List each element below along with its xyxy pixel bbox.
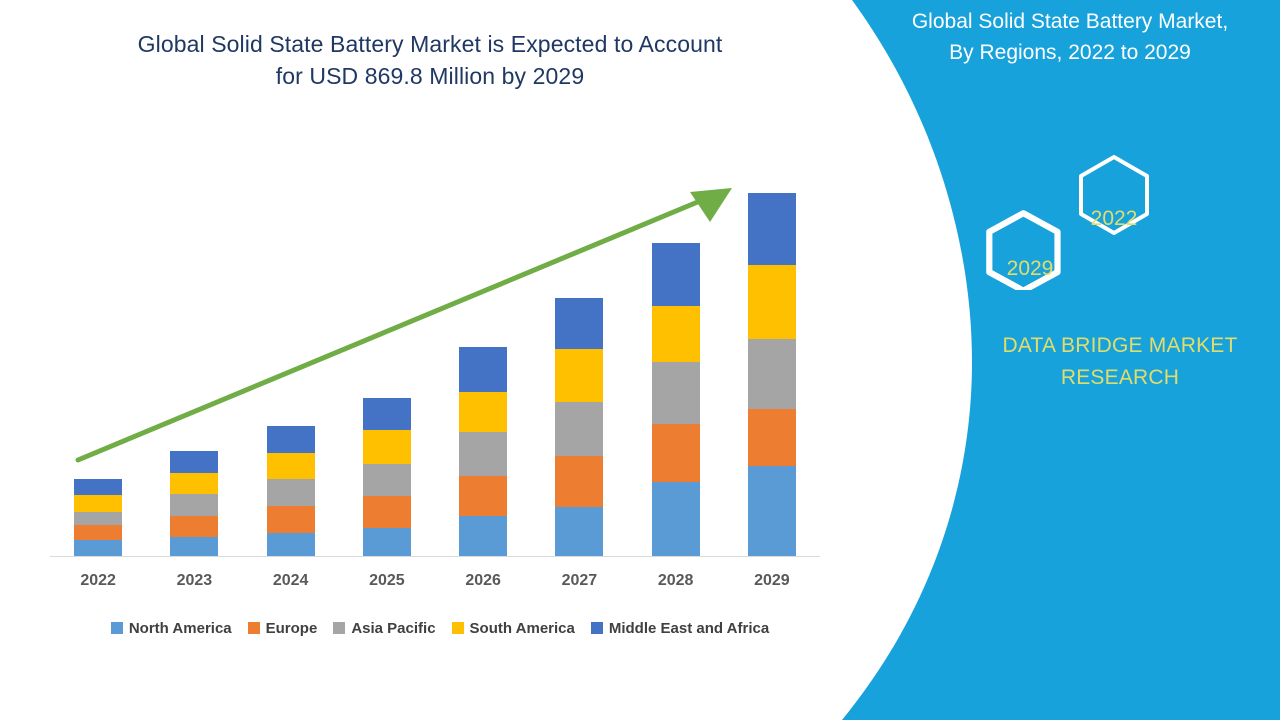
x-axis-labels: 20222023202420252026202720282029 xyxy=(50,572,820,598)
bar-segment[interactable] xyxy=(363,430,411,464)
legend-item[interactable]: South America xyxy=(452,620,575,637)
legend-swatch-icon xyxy=(248,622,260,634)
bar-segment[interactable] xyxy=(267,453,315,479)
bar-2026[interactable] xyxy=(459,347,507,556)
legend-item[interactable]: North America xyxy=(111,620,232,637)
x-axis-line xyxy=(50,556,820,557)
bar-segment[interactable] xyxy=(170,516,218,537)
x-axis-label-2026: 2026 xyxy=(435,572,531,590)
hexagon-logo: 2029 2022 xyxy=(980,145,1180,290)
bar-segment[interactable] xyxy=(652,482,700,556)
bar-2029[interactable] xyxy=(748,193,796,556)
bar-2027[interactable] xyxy=(555,298,603,556)
bar-segment[interactable] xyxy=(459,432,507,476)
bar-segment[interactable] xyxy=(459,347,507,392)
bar-2028[interactable] xyxy=(652,243,700,556)
hexagon-2022-label: 2022 xyxy=(1072,207,1156,231)
bar-segment[interactable] xyxy=(459,392,507,432)
bar-segment[interactable] xyxy=(363,464,411,496)
bar-segment[interactable] xyxy=(267,479,315,506)
bar-segment[interactable] xyxy=(267,506,315,533)
bar-segment[interactable] xyxy=(363,398,411,430)
bar-segment[interactable] xyxy=(267,426,315,453)
bar-2025[interactable] xyxy=(363,398,411,556)
legend-label: North America xyxy=(129,620,232,637)
bar-segment[interactable] xyxy=(748,265,796,339)
legend-swatch-icon xyxy=(333,622,345,634)
x-axis-label-2025: 2025 xyxy=(339,572,435,590)
hexagon-2029-label: 2029 xyxy=(988,257,1072,281)
bar-segment[interactable] xyxy=(74,540,122,556)
bar-segment[interactable] xyxy=(652,362,700,424)
bar-segment[interactable] xyxy=(555,298,603,349)
bar-segment[interactable] xyxy=(652,306,700,362)
bar-segment[interactable] xyxy=(363,528,411,556)
bar-2022[interactable] xyxy=(74,479,122,556)
legend-label: South America xyxy=(470,620,575,637)
bar-segment[interactable] xyxy=(555,402,603,456)
bar-segment[interactable] xyxy=(555,349,603,402)
bar-segment[interactable] xyxy=(170,473,218,494)
bar-segment[interactable] xyxy=(267,533,315,556)
legend-item[interactable]: Middle East and Africa xyxy=(591,620,769,637)
bar-2024[interactable] xyxy=(267,426,315,556)
brand-name-line-2: RESEARCH xyxy=(960,362,1280,394)
legend-item[interactable]: Asia Pacific xyxy=(333,620,435,637)
bar-2023[interactable] xyxy=(170,451,218,556)
legend-label: Asia Pacific xyxy=(351,620,435,637)
bar-segment[interactable] xyxy=(555,456,603,507)
chart-legend: North AmericaEuropeAsia PacificSouth Ame… xyxy=(50,616,830,640)
chart-panel: Global Solid State Battery Market is Exp… xyxy=(0,0,860,720)
bar-segment[interactable] xyxy=(748,466,796,556)
bar-segment[interactable] xyxy=(748,193,796,265)
bar-segment[interactable] xyxy=(74,479,122,495)
bar-segment[interactable] xyxy=(170,494,218,516)
x-axis-label-2029: 2029 xyxy=(724,572,820,590)
bar-segment[interactable] xyxy=(748,409,796,466)
legend-label: Europe xyxy=(266,620,318,637)
chart-title: Global Solid State Battery Market is Exp… xyxy=(40,28,820,92)
bar-segment[interactable] xyxy=(748,339,796,409)
panel-title-line-2: By Regions, 2022 to 2029 xyxy=(860,37,1280,68)
bar-segment[interactable] xyxy=(170,537,218,556)
x-axis-label-2023: 2023 xyxy=(146,572,242,590)
bar-segment[interactable] xyxy=(170,451,218,473)
bar-segment[interactable] xyxy=(459,516,507,556)
chart-title-line-2: for USD 869.8 Million by 2029 xyxy=(40,60,820,92)
bar-segment[interactable] xyxy=(652,243,700,306)
bar-segment[interactable] xyxy=(74,495,122,512)
panel-title: Global Solid State Battery Market, By Re… xyxy=(860,6,1280,68)
bar-segment[interactable] xyxy=(74,512,122,525)
slide-canvas: Global Solid State Battery Market is Exp… xyxy=(0,0,1280,720)
brand-name-line-1: DATA BRIDGE MARKET xyxy=(960,330,1280,362)
panel-title-line-1: Global Solid State Battery Market, xyxy=(860,6,1280,37)
legend-swatch-icon xyxy=(111,622,123,634)
legend-label: Middle East and Africa xyxy=(609,620,769,637)
bar-segment[interactable] xyxy=(652,424,700,482)
chart-title-line-1: Global Solid State Battery Market is Exp… xyxy=(40,28,820,60)
legend-item[interactable]: Europe xyxy=(248,620,318,637)
bar-segment[interactable] xyxy=(74,525,122,540)
bar-segment[interactable] xyxy=(459,476,507,516)
x-axis-label-2024: 2024 xyxy=(243,572,339,590)
bar-segment[interactable] xyxy=(555,507,603,556)
x-axis-label-2028: 2028 xyxy=(628,572,724,590)
bar-segment[interactable] xyxy=(363,496,411,528)
plot-area xyxy=(50,160,820,556)
legend-swatch-icon xyxy=(591,622,603,634)
x-axis-label-2022: 2022 xyxy=(50,572,146,590)
legend-swatch-icon xyxy=(452,622,464,634)
x-axis-label-2027: 2027 xyxy=(531,572,627,590)
brand-name: DATA BRIDGE MARKET RESEARCH xyxy=(960,330,1280,394)
